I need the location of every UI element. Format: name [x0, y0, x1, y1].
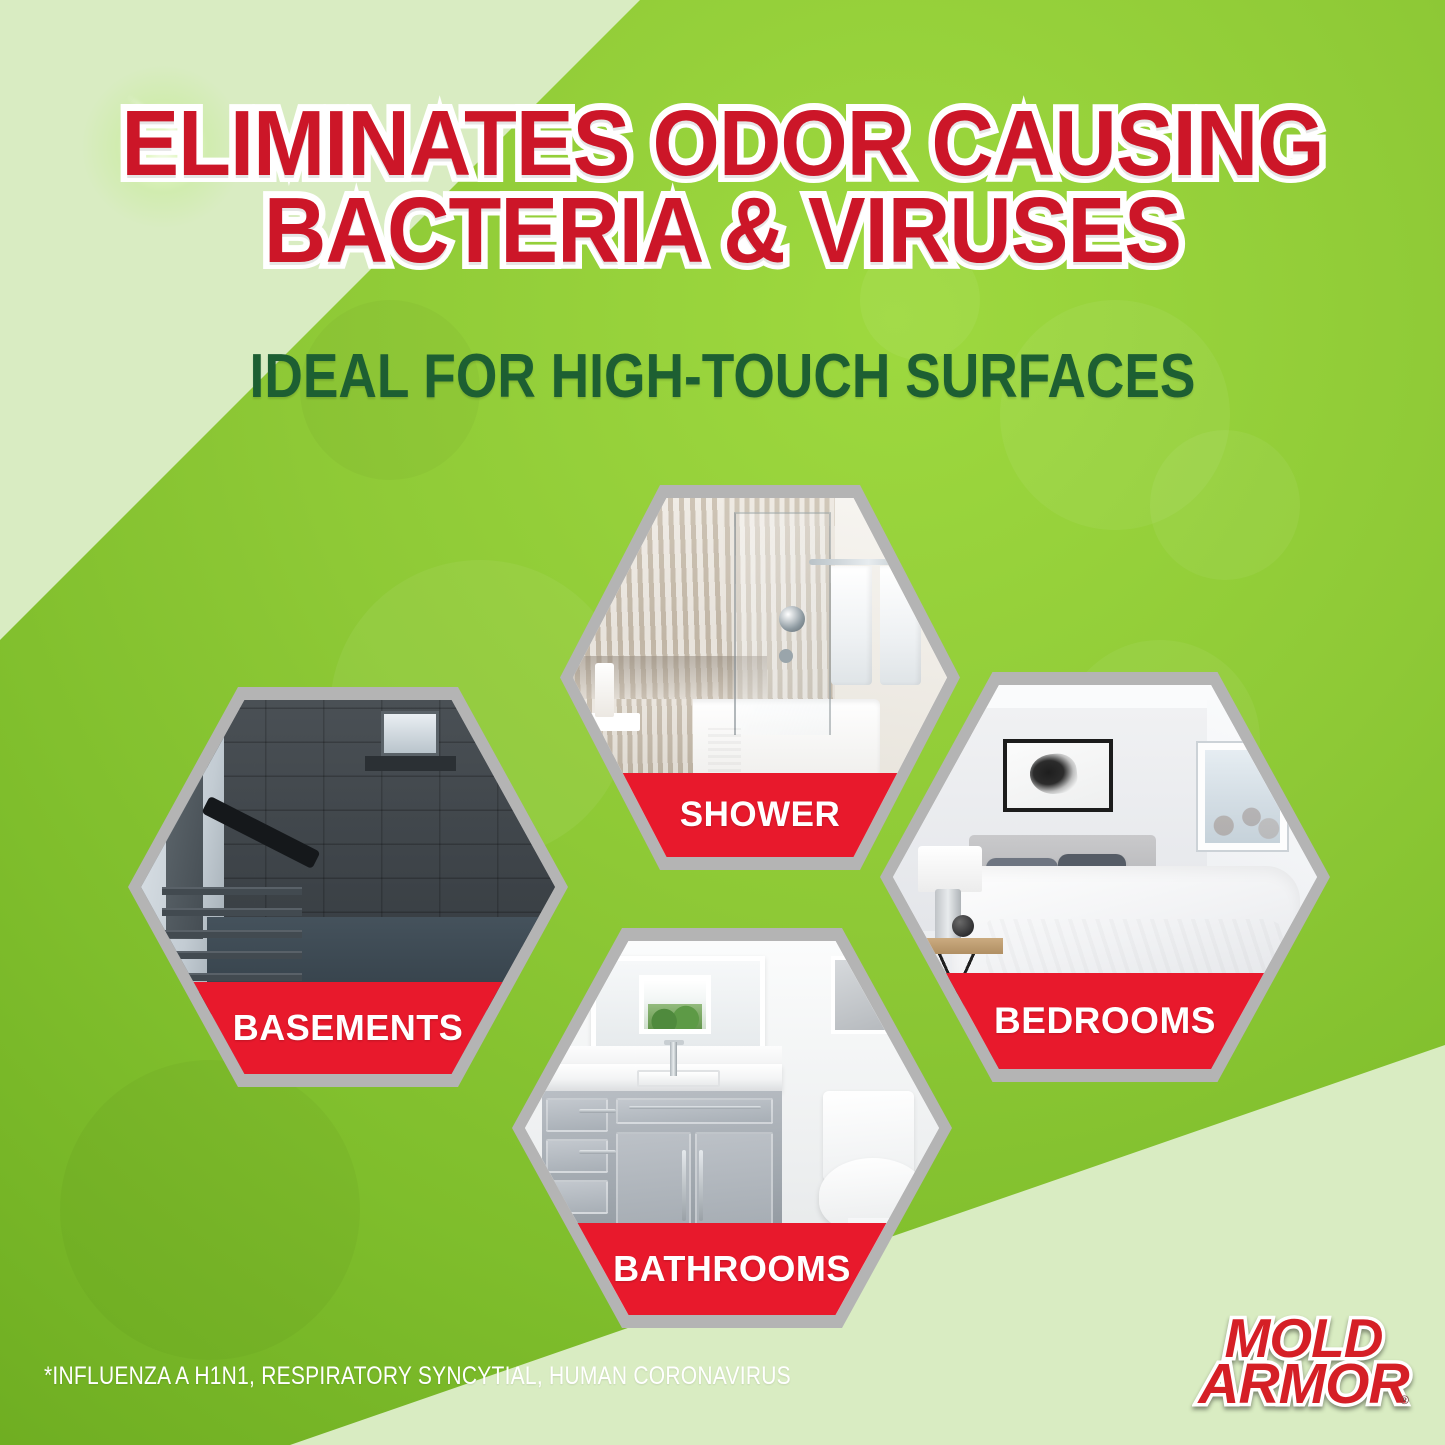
headline-line-2: BACTERIA & VIRUSES	[51, 187, 1395, 274]
feature-hexagon-bedrooms[interactable]: BEDROOMS	[880, 672, 1330, 1082]
bubble-decoration	[1150, 430, 1300, 580]
hexagon-label-shower: SHOWER	[573, 773, 947, 857]
brand-logo: MOLD ARMOR ®	[1196, 1315, 1411, 1409]
hexagon-inner-basements: BASEMENTS	[141, 700, 555, 1074]
page-subtitle: IDEAL FOR HIGH-TOUCH SURFACES	[101, 341, 1344, 412]
hexagon-inner-bathrooms: BATHROOMS	[525, 941, 939, 1315]
hexagon-label-text: BASEMENTS	[233, 1007, 464, 1049]
footnote-text: *INFLUENZA A H1N1, RESPIRATORY SYNCYTIAL…	[44, 1362, 791, 1391]
hexagon-inner-bedrooms: BEDROOMS	[893, 685, 1317, 1069]
page-title: ELIMINATES ODOR CAUSING BACTERIA & VIRUS…	[51, 100, 1395, 275]
hexagon-label-text: BATHROOMS	[613, 1248, 851, 1290]
hexagon-inner-shower: SHOWER	[573, 498, 947, 857]
registered-trademark-icon: ®	[1400, 1395, 1409, 1405]
brand-logo-line-2: ARMOR	[1196, 1361, 1411, 1409]
hexagon-label-text: BEDROOMS	[994, 1000, 1216, 1042]
hexagon-label-text: SHOWER	[680, 795, 841, 835]
poster-canvas: ELIMINATES ODOR CAUSING BACTERIA & VIRUS…	[0, 0, 1445, 1445]
